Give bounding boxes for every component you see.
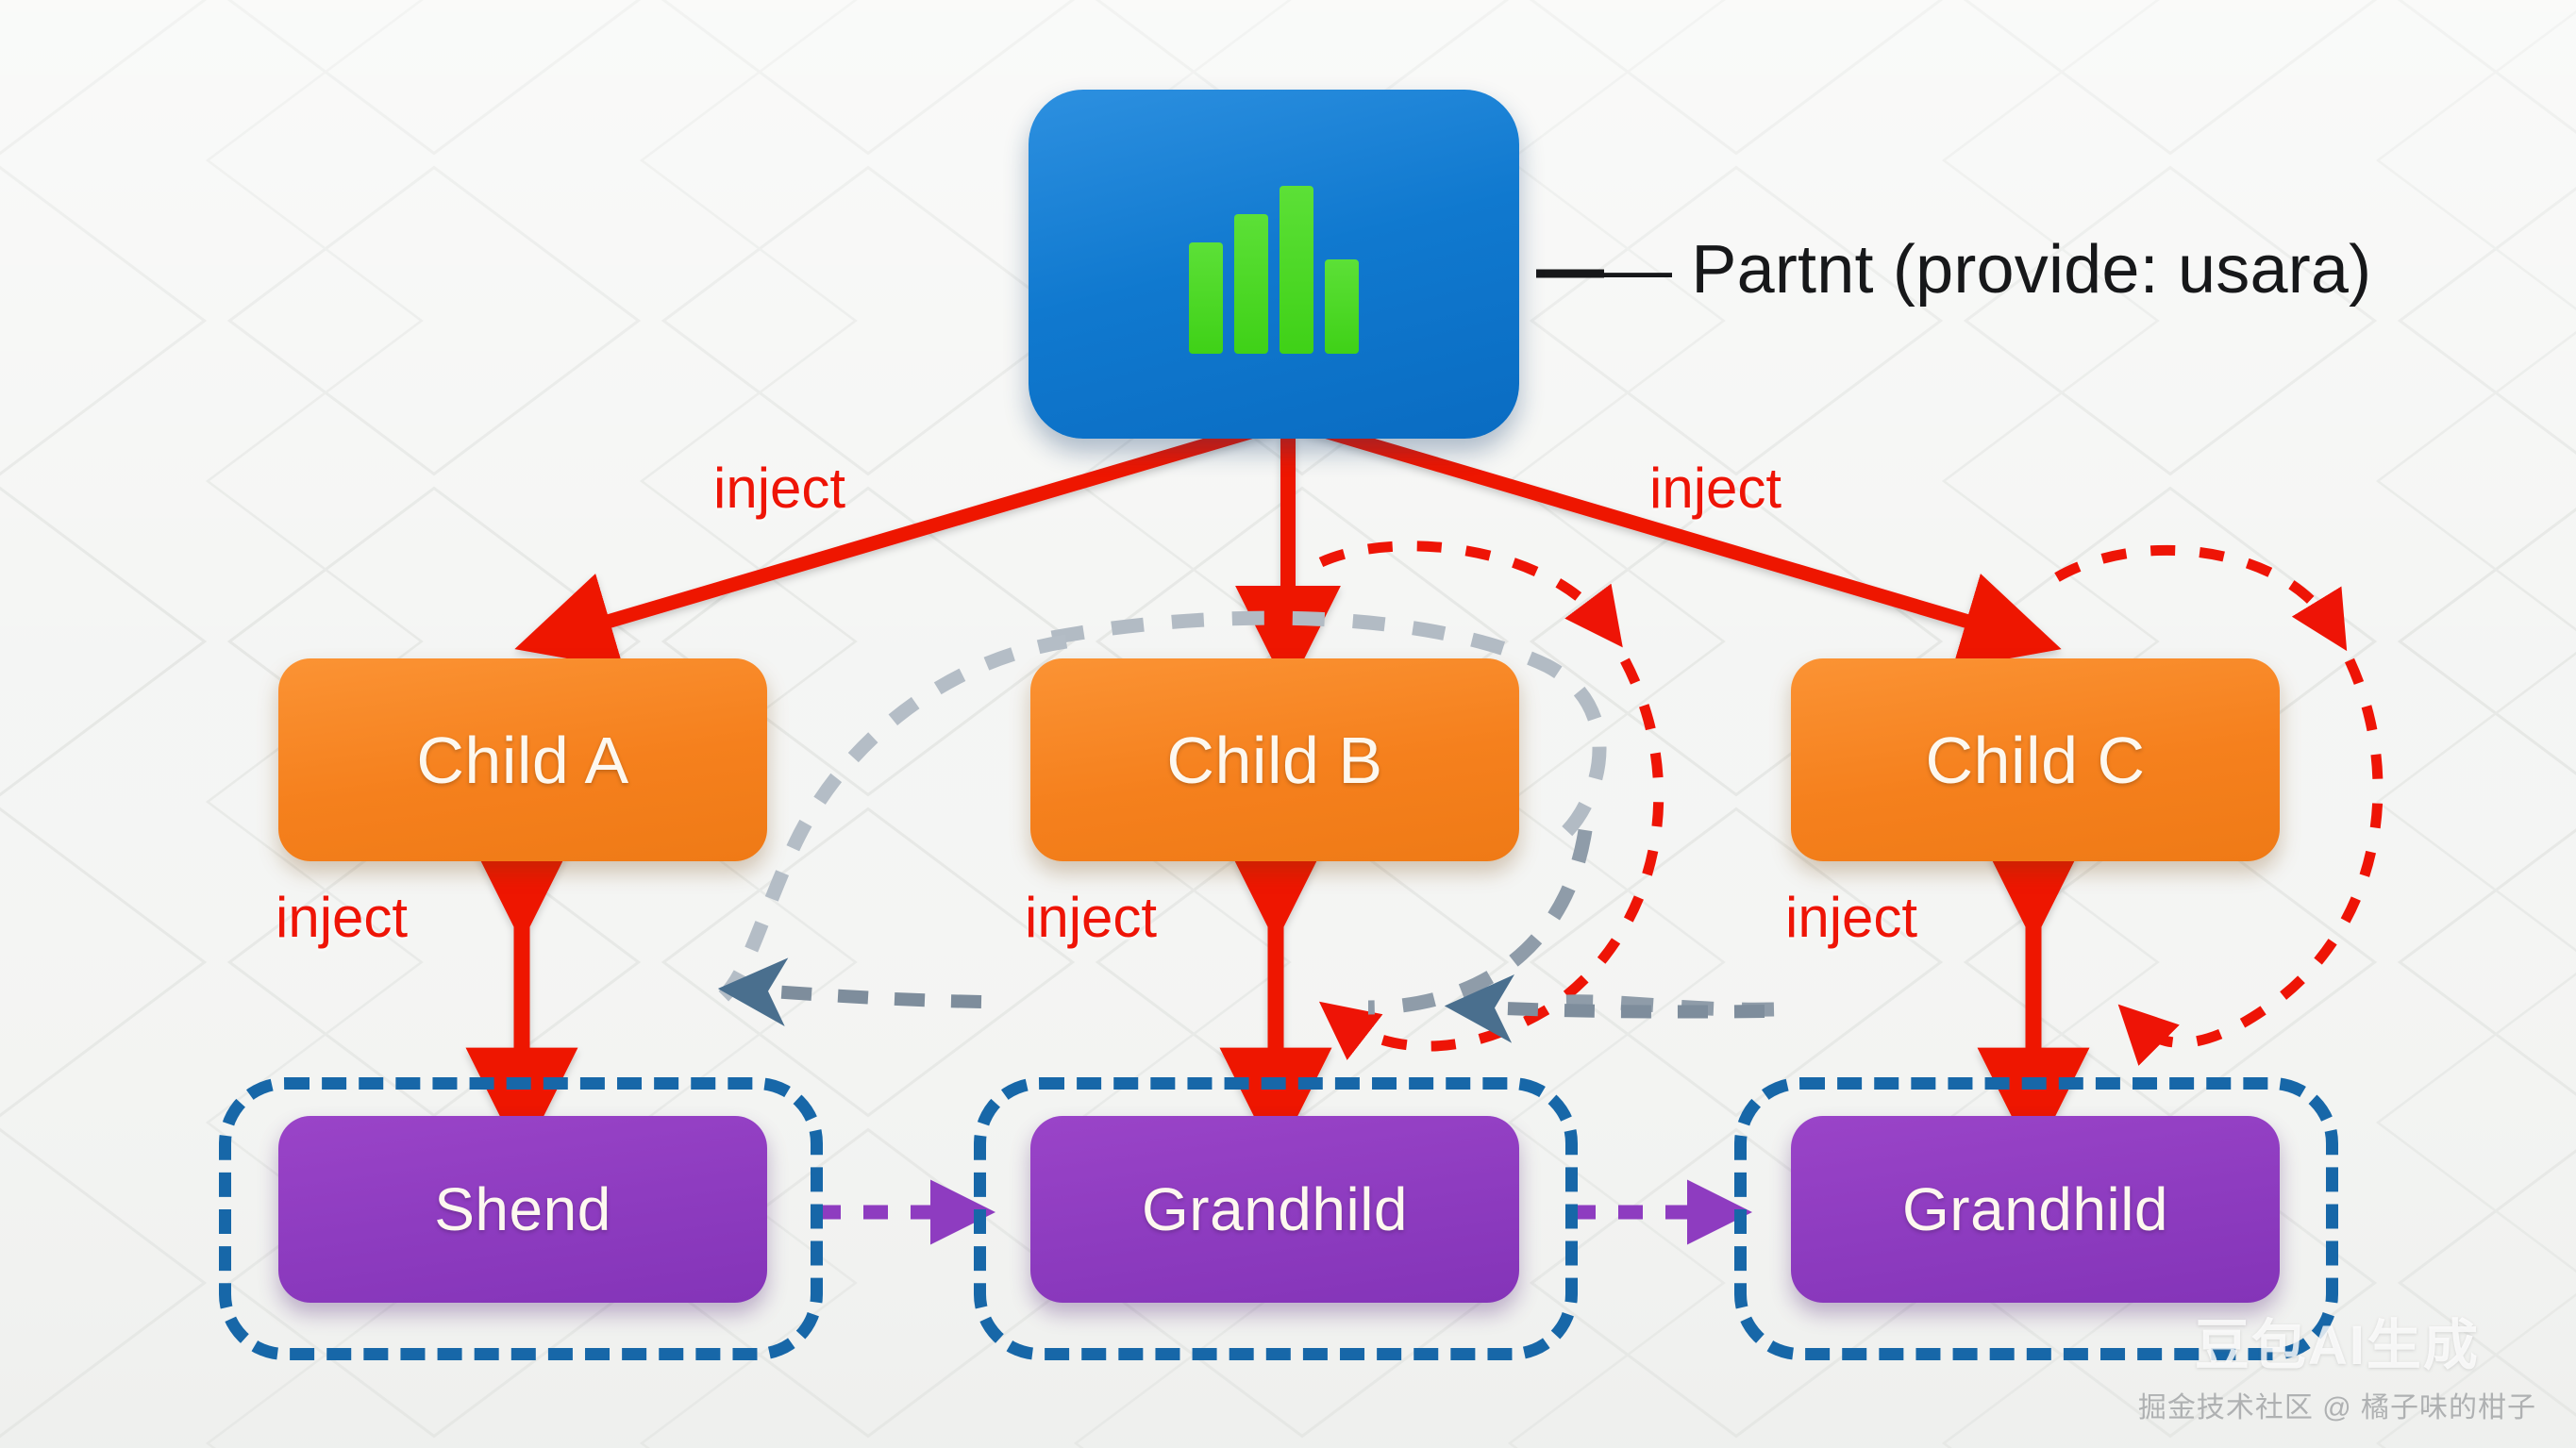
node-grandchild-3-label: Grandhild [1902, 1174, 2168, 1244]
node-child-c-label: Child C [1925, 723, 2145, 798]
node-child-b[interactable]: Child B [1030, 658, 1519, 861]
edge-label-child-a-to-grandchild-1: inject [276, 885, 408, 950]
edge-gray-b-loop-left [717, 641, 1066, 1002]
icon-bar-1 [1189, 242, 1223, 354]
node-grandchild-3[interactable]: Grandhild [1791, 1116, 2280, 1303]
node-child-a[interactable]: Child A [278, 658, 767, 861]
icon-bar-3 [1280, 186, 1313, 354]
watermark: 豆包AI生成 掘金技术社区 @ 橘子味的柑子 [2138, 1301, 2536, 1425]
edge-label-child-c-to-grandchild-3: inject [1785, 885, 1917, 950]
watermark-credit: 掘金技术社区 @ 橘子味的柑子 [2138, 1384, 2536, 1425]
callout-parent-label: — Partnt (provide: usara) [1604, 231, 2371, 308]
node-child-b-label: Child B [1166, 723, 1382, 798]
edge-dotted-c-up [2057, 550, 2331, 624]
diagram-canvas: — Partnt (provide: usara) Child A Child … [0, 0, 2576, 1448]
edge-gray-to-grandchild-1 [755, 990, 981, 1002]
watermark-brand: 豆包AI生成 [2138, 1301, 2536, 1380]
edge-dotted-b-up [1321, 546, 1604, 623]
icon-bar-2 [1234, 214, 1268, 354]
node-grandchild-2-label: Grandhild [1142, 1174, 1408, 1244]
node-grandchild-1[interactable]: Shend [278, 1116, 767, 1303]
bar-chart-icon [1189, 175, 1359, 354]
icon-bar-4 [1325, 259, 1359, 354]
node-child-a-label: Child A [416, 723, 628, 798]
edge-label-parent-to-child-c: inject [1649, 456, 1781, 521]
node-grandchild-2[interactable]: Grandhild [1030, 1116, 1519, 1303]
node-grandchild-1-label: Shend [434, 1174, 611, 1244]
node-parent[interactable] [1029, 90, 1519, 439]
edge-parent-child-a [566, 424, 1276, 634]
edge-dashed-gray-arrowheads [755, 990, 1765, 1012]
edge-label-child-b-to-grandchild-2: inject [1025, 885, 1157, 950]
edge-gray-to-grandchild-2 [1481, 1007, 1765, 1012]
edge-label-parent-to-child-a: inject [713, 456, 845, 521]
node-child-c[interactable]: Child C [1791, 658, 2280, 861]
